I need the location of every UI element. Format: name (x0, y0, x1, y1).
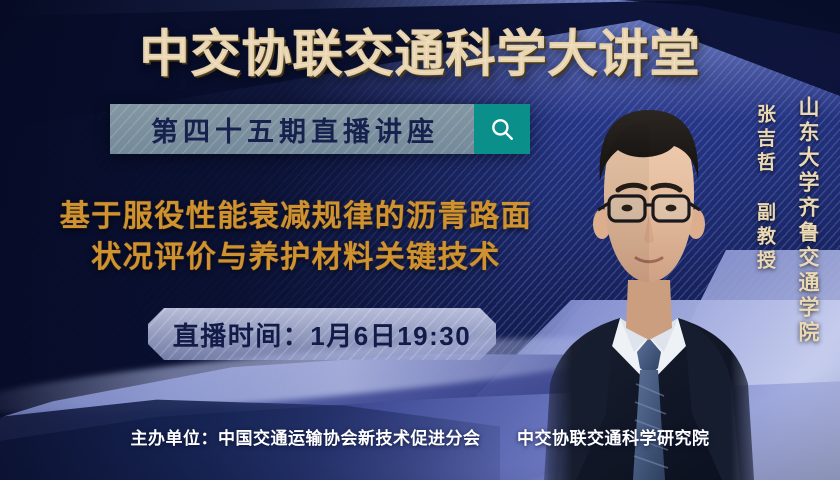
series-badge[interactable]: 第四十五期直播讲座 (110, 104, 530, 154)
lecture-title-line2: 状况评价与养护材料关键技术 (22, 237, 570, 278)
organizer-footer: 主办单位：中国交通运输协会新技术促进分会 中交协联交通科学研究院 (0, 424, 840, 449)
lecture-title: 基于服役性能衰减规律的沥青路面 状况评价与养护材料关键技术 (22, 196, 570, 279)
webinar-poster: 中交协联交通科学大讲堂 第四十五期直播讲座 基于服役性能衰减规律的沥青路面 状况… (0, 0, 840, 480)
speaker-affiliation: 山东大学齐鲁交通学院 (792, 96, 822, 346)
organizer-primary: 主办单位：中国交通运输协会新技术促进分会 (131, 429, 481, 448)
organizer-secondary: 中交协联交通科学研究院 (517, 429, 710, 448)
series-label: 第四十五期直播讲座 (110, 104, 474, 154)
lecture-title-line1: 基于服役性能衰减规律的沥青路面 (60, 200, 533, 233)
speaker-name: 张吉哲 副教授 (751, 104, 778, 274)
search-icon[interactable] (474, 104, 530, 154)
speaker-photo (536, 84, 762, 480)
page-title: 中交协联交通科学大讲堂 (0, 14, 840, 86)
live-time-badge: 直播时间：1月6日19:30 (148, 308, 496, 360)
